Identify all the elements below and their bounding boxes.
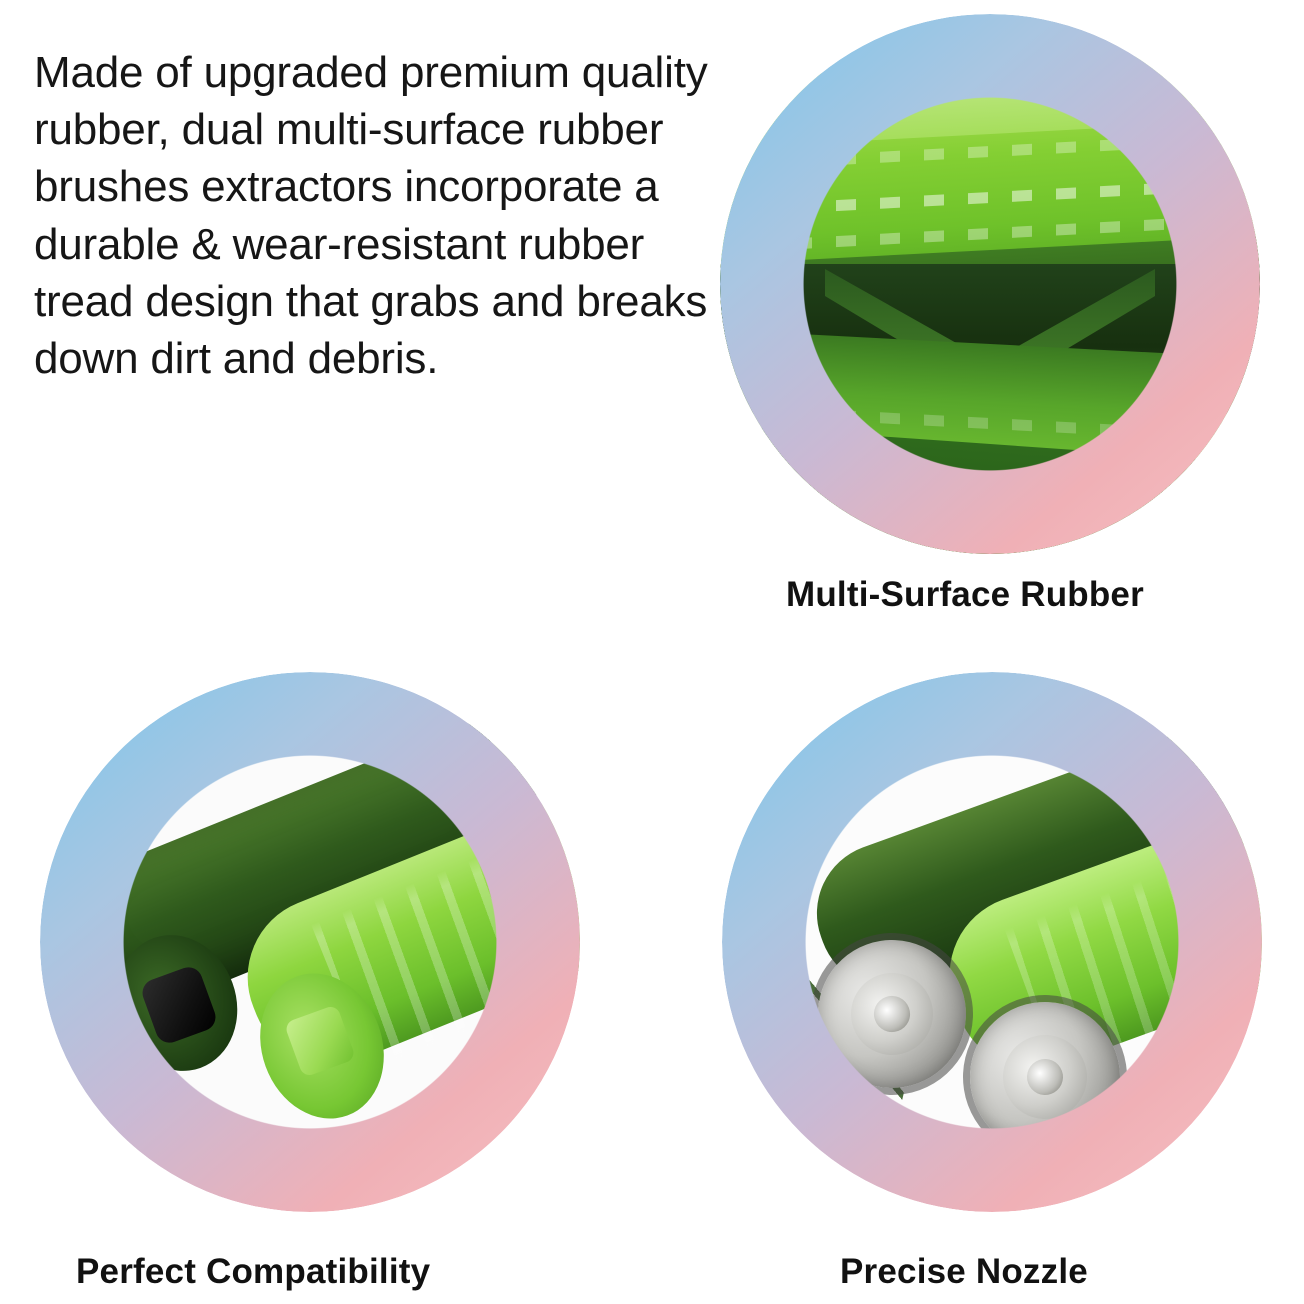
description-text: Made of upgraded premium quality rubber,… — [34, 44, 724, 387]
photo-circle-perfect-compatibility — [40, 672, 580, 1212]
photo-multi-surface-rubber — [720, 14, 1260, 554]
caption-multi-surface-rubber: Multi-Surface Rubber — [786, 575, 1144, 615]
photo-perfect-compatibility — [40, 672, 580, 1212]
photo-circle-precise-nozzle — [722, 672, 1262, 1212]
photo-precise-nozzle — [722, 672, 1262, 1212]
panel-precise-nozzle — [722, 672, 1262, 1212]
product-feature-image: Made of upgraded premium quality rubber,… — [0, 0, 1304, 1304]
panel-multi-surface-rubber — [720, 14, 1260, 554]
photo-circle-multi-surface-rubber — [720, 14, 1260, 554]
caption-precise-nozzle: Precise Nozzle — [840, 1252, 1088, 1292]
panel-perfect-compatibility — [40, 672, 580, 1212]
caption-perfect-compatibility: Perfect Compatibility — [76, 1252, 430, 1292]
